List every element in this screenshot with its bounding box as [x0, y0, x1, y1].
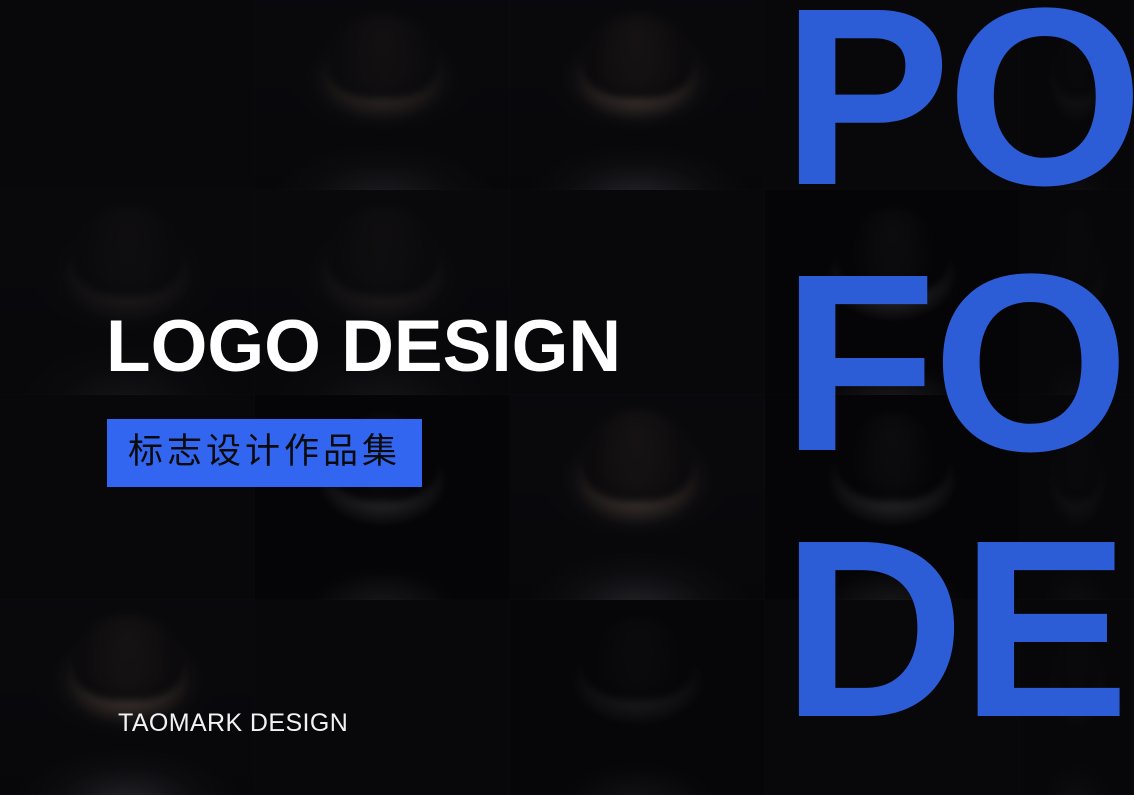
tile-r4c1	[0, 600, 255, 795]
portrait-photo	[510, 0, 765, 190]
tile-r3c3	[510, 395, 765, 600]
portrait-hair-shape	[326, 15, 438, 99]
portrait-photo	[0, 600, 255, 795]
portrait-hair-shape	[581, 15, 693, 99]
wordmark-line-1: PO	[782, 0, 1134, 230]
tile-r1c1	[0, 0, 255, 190]
wordmark-line-2: FO	[782, 230, 1134, 496]
tile-r1c2	[255, 0, 510, 190]
page-title: LOGO DESIGN	[106, 306, 621, 388]
subtitle-badge: 标志设计作品集	[107, 419, 422, 487]
studio-credit: TAOMARK DESIGN	[118, 708, 348, 738]
poster-canvas: PO FO DE LOGO DESIGN 标志设计作品集 TAOMARK DES…	[0, 0, 1134, 795]
portrait-hair-shape	[581, 411, 693, 501]
portrait-photo	[510, 600, 765, 795]
background-wordmark: PO FO DE	[782, 0, 1134, 762]
tile-r4c3	[510, 600, 765, 795]
portrait-photo	[510, 395, 765, 600]
tile-r1c3	[510, 0, 765, 190]
portrait-hair-shape	[71, 616, 183, 702]
tile-r4c2	[255, 600, 510, 795]
portrait-hair-shape	[326, 206, 438, 296]
portrait-photo	[255, 0, 510, 190]
wordmark-line-3: DE	[782, 496, 1134, 762]
portrait-hair-shape	[71, 206, 183, 296]
portrait-hair-shape	[581, 616, 693, 702]
